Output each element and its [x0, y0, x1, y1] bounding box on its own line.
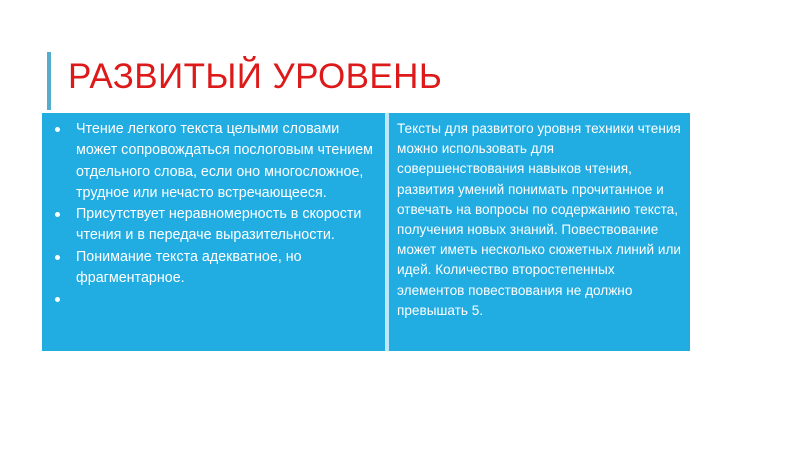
list-item: Чтение легкого текста целыми словами мож…	[48, 119, 375, 204]
left-column-cell: Чтение легкого текста целыми словами мож…	[42, 113, 385, 351]
bullet-dot-icon	[55, 212, 60, 217]
list-item-text: Чтение легкого текста целыми словами мож…	[76, 121, 373, 201]
list-item: Присутствует неравномерность в скорости …	[48, 204, 375, 247]
content-table: Чтение легкого текста целыми словами мож…	[42, 113, 690, 351]
bullet-list: Чтение легкого текста целыми словами мож…	[48, 119, 375, 311]
bullet-dot-icon	[55, 255, 60, 260]
list-item-text: Понимание текста адекватное, но фрагмент…	[76, 249, 302, 286]
title-accent-bar	[47, 52, 51, 110]
right-column-paragraph: Тексты для развитого уровня техники чтен…	[397, 119, 682, 321]
page-title: РАЗВИТЫЙ УРОВЕНЬ	[68, 50, 688, 104]
list-item-text: Присутствует неравномерность в скорости …	[76, 206, 361, 243]
list-item: Понимание текста адекватное, но фрагмент…	[48, 247, 375, 290]
slide: РАЗВИТЫЙ УРОВЕНЬ Чтение легкого текста ц…	[0, 0, 800, 450]
bullet-dot-icon	[55, 297, 60, 302]
right-column-cell: Тексты для развитого уровня техники чтен…	[389, 113, 690, 351]
bullet-dot-icon	[55, 127, 60, 132]
list-item	[48, 289, 375, 310]
